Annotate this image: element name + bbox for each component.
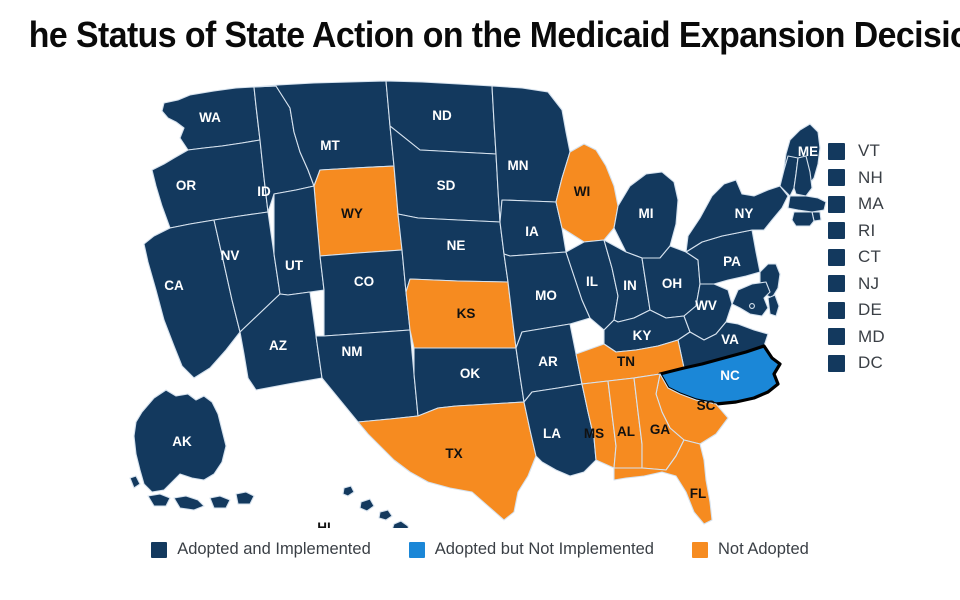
state-TX[interactable]: [358, 402, 536, 520]
side-legend-item-nj[interactable]: NJ: [828, 271, 948, 298]
state-shapes-group: [130, 81, 826, 528]
state-CT[interactable]: [792, 212, 814, 226]
side-legend-item-de[interactable]: DE: [828, 297, 948, 324]
side-legend-item-ma[interactable]: MA: [828, 191, 948, 218]
state-AK[interactable]: [130, 390, 254, 510]
legend-item-adopted-not-implemented[interactable]: Adopted but Not Implemented: [409, 540, 654, 559]
side-legend-item-md[interactable]: MD: [828, 324, 948, 351]
legend-item-adopted-implemented[interactable]: Adopted and Implemented: [151, 540, 371, 559]
state-MI[interactable]: [614, 172, 678, 258]
state-WA[interactable]: [162, 87, 260, 150]
side-legend-swatch-de: [828, 302, 845, 319]
side-legend-swatch-ma: [828, 196, 845, 213]
side-legend-label: DC: [858, 353, 883, 373]
legend-swatch-not-adopted: [692, 542, 708, 558]
state-MD[interactable]: [732, 282, 770, 316]
state-KS[interactable]: [406, 279, 516, 348]
side-legend-item-ct[interactable]: CT: [828, 244, 948, 271]
side-legend-label: RI: [858, 221, 875, 241]
us-choropleth-map: WA OR CA NV ID MT WY UT AZ CO NM ND SD N…: [118, 78, 838, 528]
side-legend-label: NJ: [858, 274, 879, 294]
state-DE[interactable]: [768, 295, 779, 316]
state-MA[interactable]: [788, 196, 826, 212]
legend-swatch-adopted-implemented: [151, 542, 167, 558]
legend-label: Adopted and Implemented: [177, 540, 371, 559]
side-legend-swatch-ct: [828, 249, 845, 266]
side-legend-label: MA: [858, 194, 884, 214]
side-legend-label: MD: [858, 327, 885, 347]
map-svg: WA OR CA NV ID MT WY UT AZ CO NM ND SD N…: [118, 78, 838, 528]
side-legend-swatch-md: [828, 328, 845, 345]
side-legend-swatch-ri: [828, 222, 845, 239]
legend-label: Adopted but Not Implemented: [435, 540, 654, 559]
side-legend-swatch-nj: [828, 275, 845, 292]
state-HI[interactable]: [343, 486, 410, 528]
state-WY[interactable]: [314, 166, 402, 256]
map-legend: Adopted and ImplementedAdopted but Not I…: [0, 540, 960, 559]
state-NM[interactable]: [316, 330, 418, 422]
side-legend-item-nh[interactable]: NH: [828, 165, 948, 192]
side-legend-item-ri[interactable]: RI: [828, 218, 948, 245]
legend-item-not-adopted[interactable]: Not Adopted: [692, 540, 809, 559]
page-title: he Status of State Action on the Medicai…: [29, 14, 931, 56]
side-legend-swatch-dc: [828, 355, 845, 372]
state-IA[interactable]: [500, 200, 566, 256]
side-legend-label: VT: [858, 141, 880, 161]
side-legend-item-vt[interactable]: VT: [828, 138, 948, 165]
state-label-HI: HI: [317, 520, 331, 528]
state-DC[interactable]: [750, 304, 755, 309]
side-legend-label: NH: [858, 168, 883, 188]
side-legend-item-dc[interactable]: DC: [828, 350, 948, 377]
side-legend-label: DE: [858, 300, 882, 320]
side-legend-swatch-nh: [828, 169, 845, 186]
legend-label: Not Adopted: [718, 540, 809, 559]
side-legend: VTNHMARICTNJDEMDDC: [828, 138, 948, 377]
side-legend-label: CT: [858, 247, 881, 267]
state-CO[interactable]: [320, 250, 410, 336]
side-legend-swatch-vt: [828, 143, 845, 160]
legend-swatch-adopted-not-implemented: [409, 542, 425, 558]
